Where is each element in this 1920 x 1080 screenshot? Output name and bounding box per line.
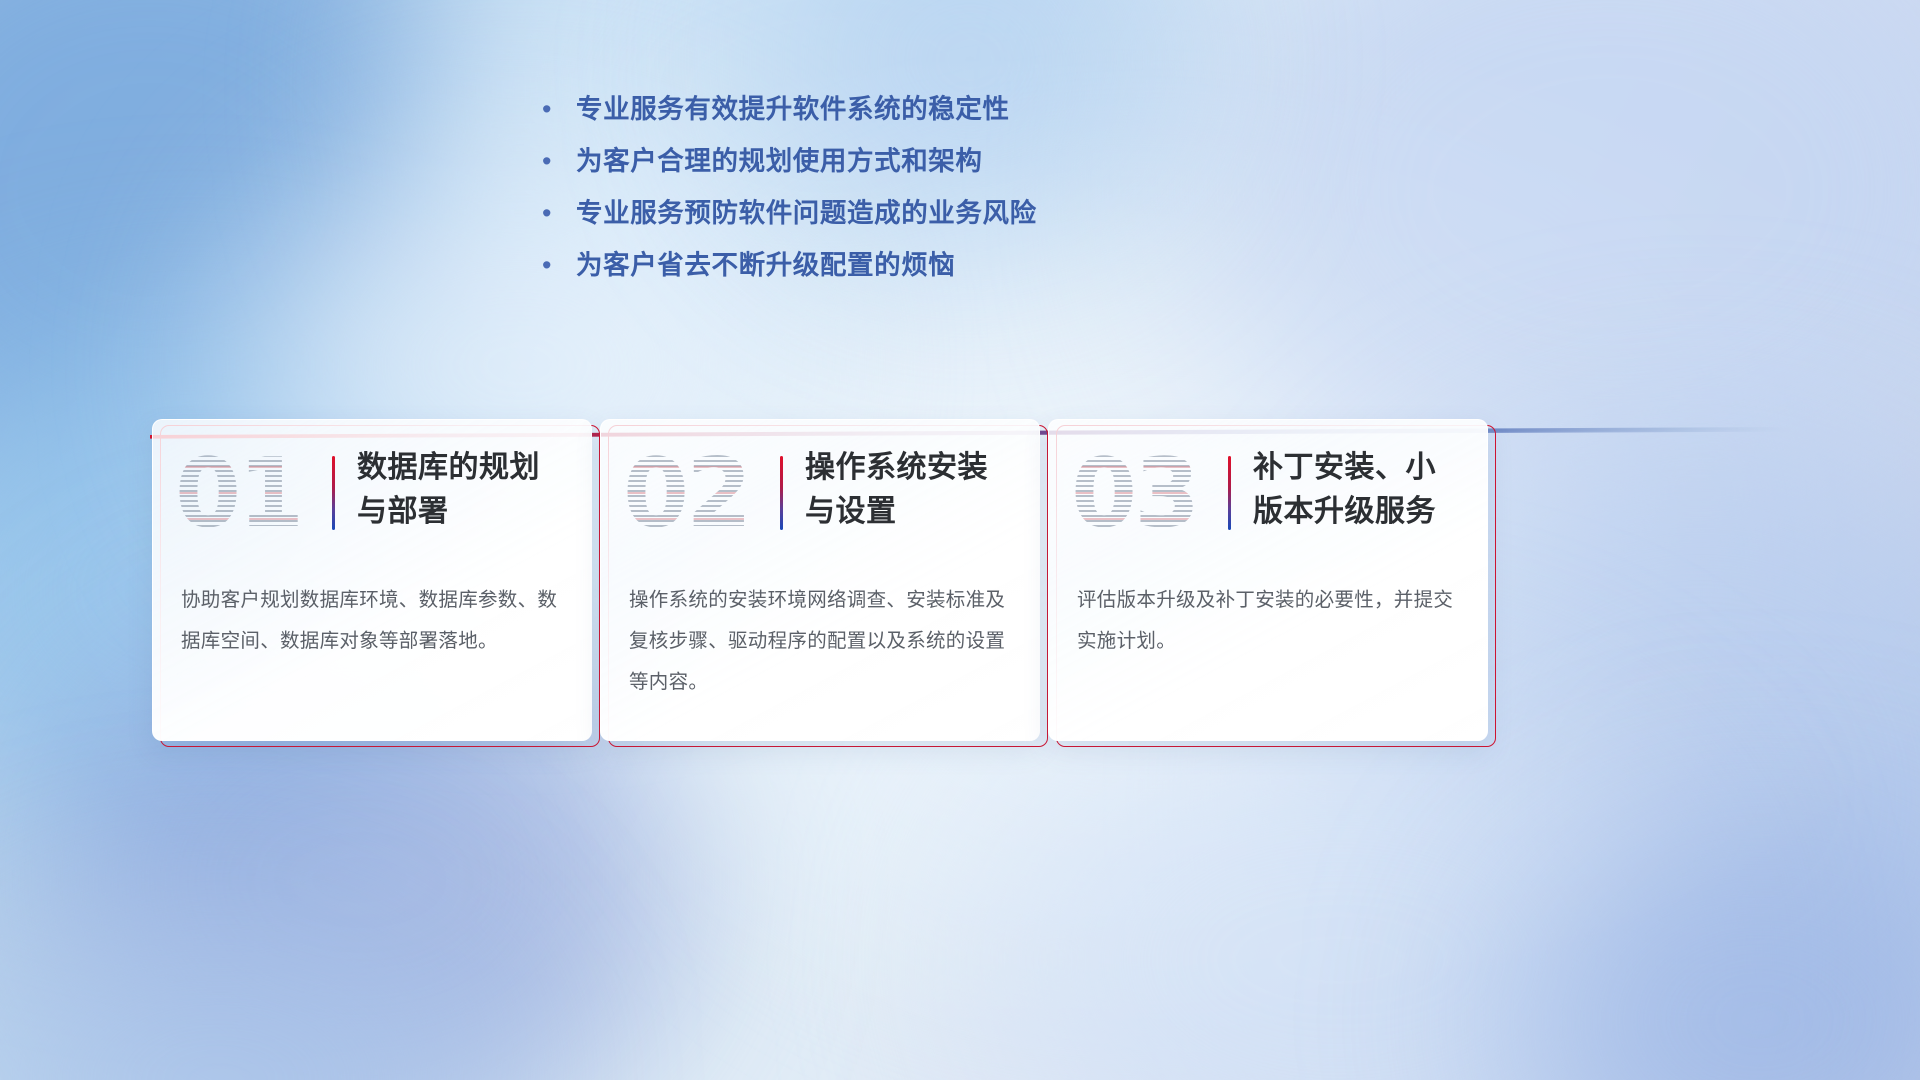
card-panel: 03 补丁安装、小 版本升级服务 评估版本升级及补丁安装的必要性，并提交实施计划… (1048, 419, 1488, 741)
card-description: 协助客户规划数据库环境、数据库参数、数据库空间、数据库对象等部署落地。 (181, 580, 567, 662)
service-card-02[interactable]: 02 操作系统安装 与设置 操作系统的安装环境网络调查、安装标准及复核步骤、驱动… (600, 419, 1040, 741)
service-card-01[interactable]: 01 数据库的规划 与部署 协助客户规划数据库环境、数据库参数、数据库空间、数据… (152, 419, 592, 741)
card-title-line-2: 与设置 (805, 490, 1031, 534)
benefits-bullet-list: • 专业服务有效提升软件系统的稳定性 • 为客户合理的规划使用方式和架构 • 专… (536, 86, 1296, 294)
card-title-line-1: 操作系统安装 (805, 446, 1031, 490)
card-title: 操作系统安装 与设置 (805, 446, 1031, 534)
list-item: • 为客户省去不断升级配置的烦恼 (536, 242, 1296, 294)
card-description: 评估版本升级及补丁安装的必要性，并提交实施计划。 (1077, 580, 1463, 662)
service-card-group: 01 数据库的规划 与部署 协助客户规划数据库环境、数据库参数、数据库空间、数据… (152, 419, 1772, 759)
card-panel: 01 数据库的规划 与部署 协助客户规划数据库环境、数据库参数、数据库空间、数据… (152, 419, 592, 741)
slide-stage: • 专业服务有效提升软件系统的稳定性 • 为客户合理的规划使用方式和架构 • 专… (0, 0, 1920, 1080)
list-item: • 专业服务预防软件问题造成的业务风险 (536, 190, 1296, 242)
card-accent-bar (780, 456, 783, 530)
card-number-watermark: 02 (623, 440, 751, 548)
card-title: 数据库的规划 与部署 (357, 446, 583, 534)
card-title-line-1: 数据库的规划 (357, 446, 583, 490)
card-title-line-1: 补丁安装、小 (1253, 446, 1473, 490)
card-title-line-2: 版本升级服务 (1253, 490, 1473, 534)
bullet-text: 专业服务有效提升软件系统的稳定性 (576, 86, 1010, 133)
bullet-marker-icon: • (536, 242, 576, 289)
card-title-line-2: 与部署 (357, 490, 583, 534)
bullet-marker-icon: • (536, 190, 576, 237)
card-title: 补丁安装、小 版本升级服务 (1253, 446, 1473, 534)
bullet-marker-icon: • (536, 86, 576, 133)
card-accent-bar (1228, 456, 1231, 530)
list-item: • 为客户合理的规划使用方式和架构 (536, 138, 1296, 190)
card-number-watermark: 03 (1071, 440, 1199, 548)
bullet-text: 为客户合理的规划使用方式和架构 (576, 138, 983, 185)
card-accent-bar (332, 456, 335, 530)
bullet-text: 专业服务预防软件问题造成的业务风险 (576, 190, 1037, 237)
list-item: • 专业服务有效提升软件系统的稳定性 (536, 86, 1296, 138)
card-description: 操作系统的安装环境网络调查、安装标准及复核步骤、驱动程序的配置以及系统的设置等内… (629, 580, 1015, 703)
card-panel: 02 操作系统安装 与设置 操作系统的安装环境网络调查、安装标准及复核步骤、驱动… (600, 419, 1040, 741)
card-number-watermark: 01 (175, 440, 303, 548)
bullet-text: 为客户省去不断升级配置的烦恼 (576, 242, 955, 289)
bullet-marker-icon: • (536, 138, 576, 185)
service-card-03[interactable]: 03 补丁安装、小 版本升级服务 评估版本升级及补丁安装的必要性，并提交实施计划… (1048, 419, 1488, 741)
